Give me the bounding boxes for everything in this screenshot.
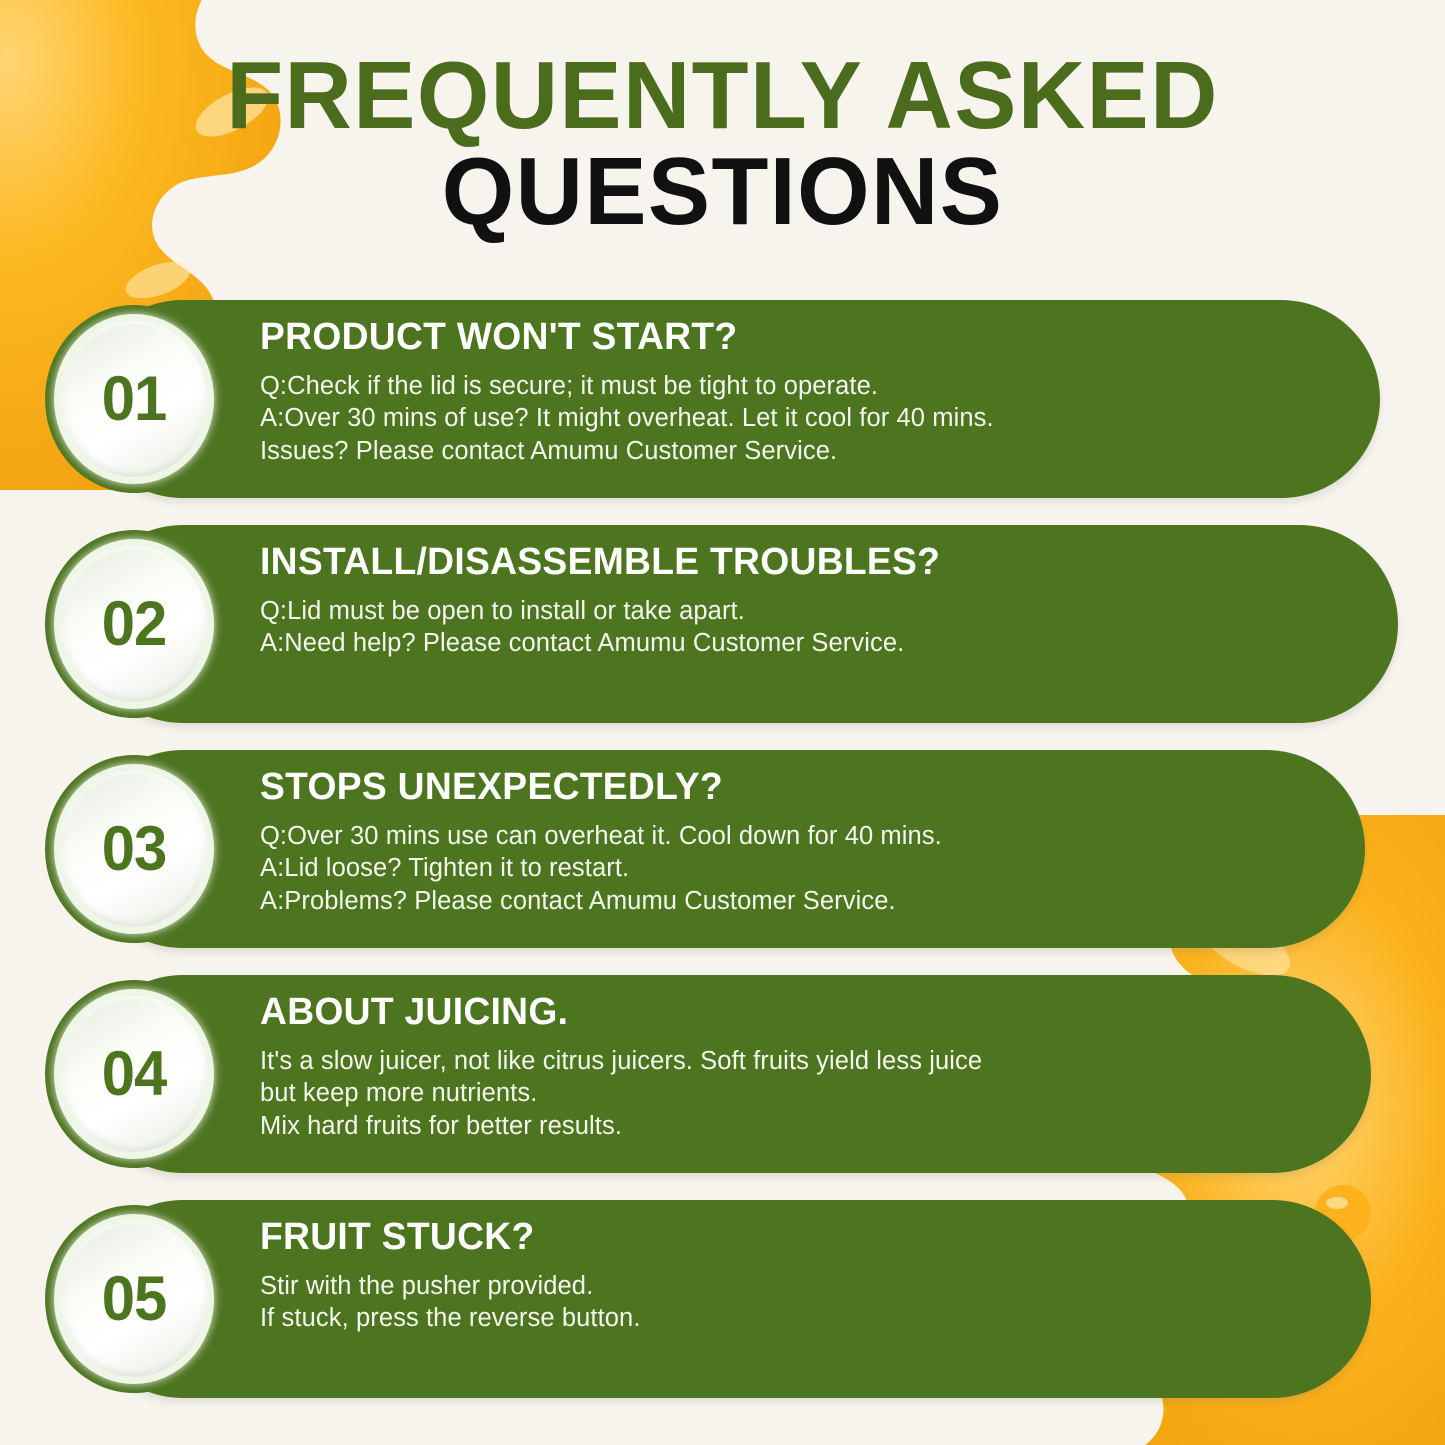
faq-item-02[interactable]: 02 INSTALL/DISASSEMBLE TROUBLES? Q:Lid m…: [0, 525, 1445, 723]
faq-item-01[interactable]: 01 PRODUCT WON'T START? Q:Check if the l…: [0, 300, 1445, 498]
faq-item-03[interactable]: 03 STOPS UNEXPECTEDLY? Q:Over 30 mins us…: [0, 750, 1445, 948]
faq-body-line: A:Problems? Please contact Amumu Custome…: [260, 885, 1360, 918]
faq-item-05[interactable]: 05 FRUIT STUCK? Stir with the pusher pro…: [0, 1200, 1445, 1398]
faq-body: Q:Lid must be open to install or take ap…: [260, 595, 1360, 660]
faq-item-04[interactable]: 04 ABOUT JUICING. It's a slow juicer, no…: [0, 975, 1445, 1173]
faq-number-badge: 02: [45, 530, 223, 718]
faq-body-line: A:Need help? Please contact Amumu Custom…: [260, 627, 1360, 660]
faq-page: FREQUENTLY ASKED QUESTIONS 01 PRODUCT WO…: [0, 0, 1445, 1445]
faq-body-line: Issues? Please contact Amumu Customer Se…: [260, 435, 1360, 468]
badge-inner: 04: [61, 996, 207, 1152]
faq-body: It's a slow juicer, not like citrus juic…: [260, 1045, 1360, 1143]
page-title-line-2: QUESTIONS: [22, 142, 1424, 242]
faq-number: 03: [102, 813, 167, 885]
faq-number-badge: 05: [45, 1205, 223, 1393]
faq-body-line: Q:Over 30 mins use can overheat it. Cool…: [260, 820, 1360, 853]
faq-body-line: A:Over 30 mins of use? It might overheat…: [260, 402, 1360, 435]
badge-inner: 02: [61, 546, 207, 702]
faq-body-line: Q:Check if the lid is secure; it must be…: [260, 370, 1360, 403]
faq-body-line: A:Lid loose? Tighten it to restart.: [260, 852, 1360, 885]
badge-inner: 05: [61, 1221, 207, 1377]
badge-inner: 03: [61, 771, 207, 927]
faq-body-line: If stuck, press the reverse button.: [260, 1302, 1360, 1335]
faq-body-line: It's a slow juicer, not like citrus juic…: [260, 1045, 1360, 1078]
faq-number: 02: [102, 588, 167, 660]
faq-body: Stir with the pusher provided. If stuck,…: [260, 1270, 1360, 1335]
faq-heading: INSTALL/DISASSEMBLE TROUBLES?: [260, 541, 1338, 585]
faq-body: Q:Over 30 mins use can overheat it. Cool…: [260, 820, 1360, 918]
faq-body-line: Stir with the pusher provided.: [260, 1270, 1360, 1303]
faq-body-line: Mix hard fruits for better results.: [260, 1110, 1360, 1143]
faq-text-block: STOPS UNEXPECTEDLY? Q:Over 30 mins use c…: [260, 766, 1360, 918]
faq-number-badge: 04: [45, 980, 223, 1168]
faq-number-badge: 03: [45, 755, 223, 943]
faq-heading: STOPS UNEXPECTEDLY?: [260, 766, 1338, 810]
faq-heading: FRUIT STUCK?: [260, 1216, 1338, 1260]
faq-text-block: INSTALL/DISASSEMBLE TROUBLES? Q:Lid must…: [260, 541, 1360, 660]
faq-text-block: PRODUCT WON'T START? Q:Check if the lid …: [260, 316, 1360, 468]
faq-body-line: but keep more nutrients.: [260, 1077, 1360, 1110]
faq-heading: PRODUCT WON'T START?: [260, 316, 1338, 360]
faq-text-block: ABOUT JUICING. It's a slow juicer, not l…: [260, 991, 1360, 1143]
faq-number-badge: 01: [45, 305, 223, 493]
faq-number: 04: [102, 1038, 167, 1110]
faq-number: 01: [102, 363, 167, 435]
page-header: FREQUENTLY ASKED QUESTIONS: [0, 46, 1445, 242]
faq-list: 01 PRODUCT WON'T START? Q:Check if the l…: [0, 300, 1445, 1425]
faq-body: Q:Check if the lid is secure; it must be…: [260, 370, 1360, 468]
badge-inner: 01: [61, 321, 207, 477]
faq-number: 05: [102, 1263, 167, 1335]
faq-text-block: FRUIT STUCK? Stir with the pusher provid…: [260, 1216, 1360, 1335]
page-title-line-1: FREQUENTLY ASKED: [22, 46, 1424, 146]
faq-body-line: Q:Lid must be open to install or take ap…: [260, 595, 1360, 628]
faq-heading: ABOUT JUICING.: [260, 991, 1338, 1035]
